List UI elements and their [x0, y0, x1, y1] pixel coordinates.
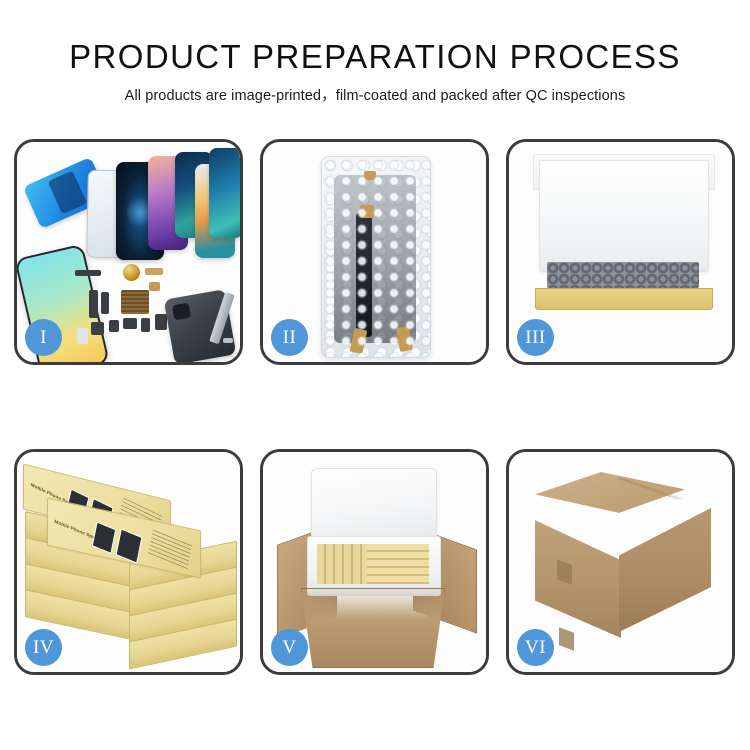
- spare-part-gold-flex-icon: [145, 268, 163, 275]
- part-gold-tab-icon: [364, 171, 376, 180]
- box-window-screen-icon: [92, 522, 117, 554]
- step-panel-iii: III: [506, 139, 735, 365]
- spare-part-cable-icon: [89, 290, 98, 318]
- header: PRODUCT PREPARATION PROCESS All products…: [0, 38, 750, 106]
- phone-screen-green-icon: [209, 148, 240, 238]
- step-panel-vi: VI: [506, 449, 735, 675]
- spare-part-module-icon: [123, 318, 137, 329]
- step-badge-iv: IV: [25, 629, 62, 666]
- carton-body-icon: [301, 588, 445, 668]
- spare-part-strip-icon: [75, 270, 101, 276]
- part-gold-connector-icon: [360, 205, 374, 218]
- box-lid-icon: [539, 160, 709, 272]
- step-panel-i: I: [14, 139, 243, 365]
- bubble-wrapped-contents-icon: [547, 262, 699, 288]
- step-panel-v: V: [260, 449, 489, 675]
- process-step-grid: I II: [14, 139, 736, 675]
- carton-right-face-icon: [619, 500, 711, 632]
- carton-tape-lower-icon: [559, 627, 574, 650]
- step-panel-iv: Mobile Phone Spare Parts Mobile Phone Sp…: [14, 449, 243, 675]
- page-subtitle: All products are image-printed，film-coat…: [0, 86, 750, 106]
- spare-part-connector-icon: [149, 282, 160, 291]
- step-badge-v: V: [271, 629, 308, 666]
- box-window-screen-icon: [116, 528, 143, 563]
- spare-part-chip-icon: [121, 290, 149, 314]
- spare-part-button-icon: [91, 322, 104, 335]
- bubble-wrap-bag-icon: [321, 156, 431, 358]
- page-title: PRODUCT PREPARATION PROCESS: [0, 38, 750, 76]
- step-badge-ii: II: [271, 319, 308, 356]
- spare-part-screw-icon: [223, 338, 233, 343]
- wrapped-part-icon: [334, 175, 416, 343]
- part-flex-cable-icon: [356, 213, 372, 337]
- step-badge-iii: III: [517, 319, 554, 356]
- spare-part-camera-icon: [109, 320, 119, 332]
- step-panel-ii: II: [260, 139, 489, 365]
- box-spec-text-lines: [148, 530, 192, 570]
- spare-part-battery-tab-icon: [155, 314, 167, 330]
- product-preparation-infographic: PRODUCT PREPARATION PROCESS All products…: [0, 0, 750, 750]
- spare-part-sim-tray-icon: [141, 318, 150, 332]
- carton-top-face-icon: [535, 472, 685, 534]
- kraft-box-front-icon: [535, 288, 713, 310]
- step-badge-vi: VI: [517, 629, 554, 666]
- foam-box-lid-icon: [311, 468, 437, 542]
- step-badge-i: I: [25, 319, 62, 356]
- spare-part-speaker-icon: [123, 264, 140, 281]
- packed-boxes-row-icon: [367, 544, 429, 584]
- spare-part-white-clip-icon: [77, 328, 88, 344]
- carton-left-face-icon: [535, 504, 621, 638]
- spare-part-bracket-icon: [101, 292, 109, 314]
